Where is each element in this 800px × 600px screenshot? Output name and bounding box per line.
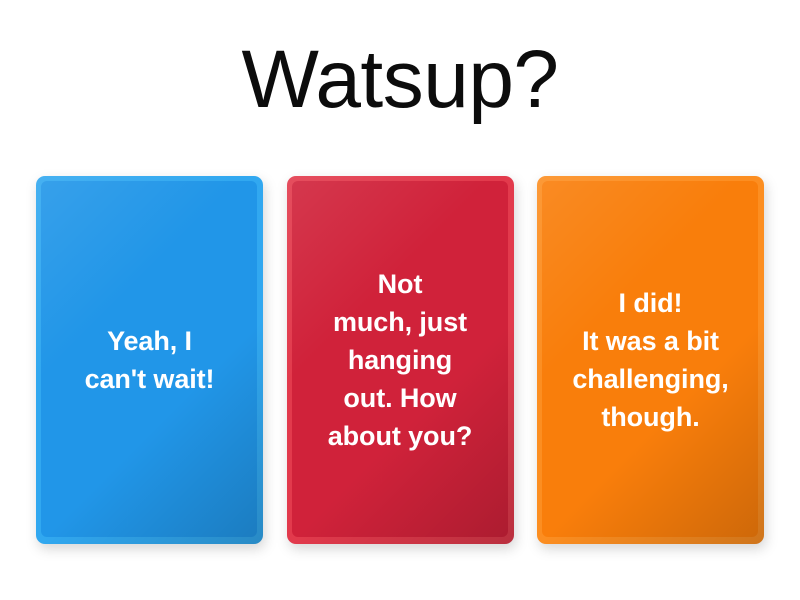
flip-card-1[interactable]: Yeah, I can't wait!: [36, 176, 263, 544]
card-text-3: I did! It was a bit challenging, though.: [547, 284, 754, 436]
title-container: Watsup?: [0, 0, 800, 160]
activity-stage: Watsup? Yeah, I can't wait! Not much, ju…: [0, 0, 800, 600]
card-text-2: Not much, just hanging out. How about yo…: [297, 265, 504, 455]
flip-card-3[interactable]: I did! It was a bit challenging, though.: [537, 176, 764, 544]
card-row: Yeah, I can't wait! Not much, just hangi…: [36, 176, 764, 544]
flip-card-2[interactable]: Not much, just hanging out. How about yo…: [287, 176, 514, 544]
card-text-1: Yeah, I can't wait!: [46, 322, 253, 398]
page-title: Watsup?: [241, 38, 558, 122]
